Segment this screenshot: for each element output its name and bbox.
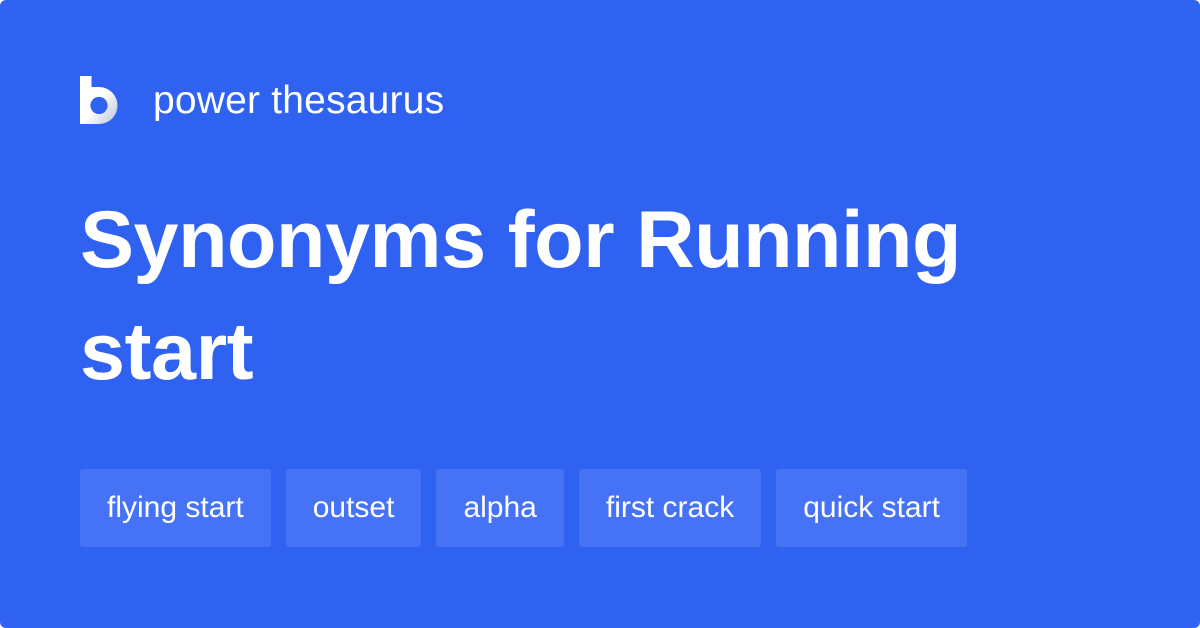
page-title: Synonyms for Running start	[80, 185, 1100, 409]
synonym-chip[interactable]: outset	[286, 469, 422, 547]
brand-header[interactable]: power thesaurus	[80, 72, 444, 128]
synonym-chip[interactable]: quick start	[776, 469, 967, 547]
brand-name: power thesaurus	[153, 81, 444, 120]
synonym-chip[interactable]: alpha	[436, 469, 563, 547]
synonym-chip-list: flying start outset alpha first crack qu…	[80, 469, 967, 547]
share-card: power thesaurus Synonyms for Running sta…	[0, 0, 1200, 628]
synonym-chip[interactable]: first crack	[579, 469, 761, 547]
synonym-chip[interactable]: flying start	[80, 469, 271, 547]
power-thesaurus-b-logo-icon	[80, 76, 124, 124]
